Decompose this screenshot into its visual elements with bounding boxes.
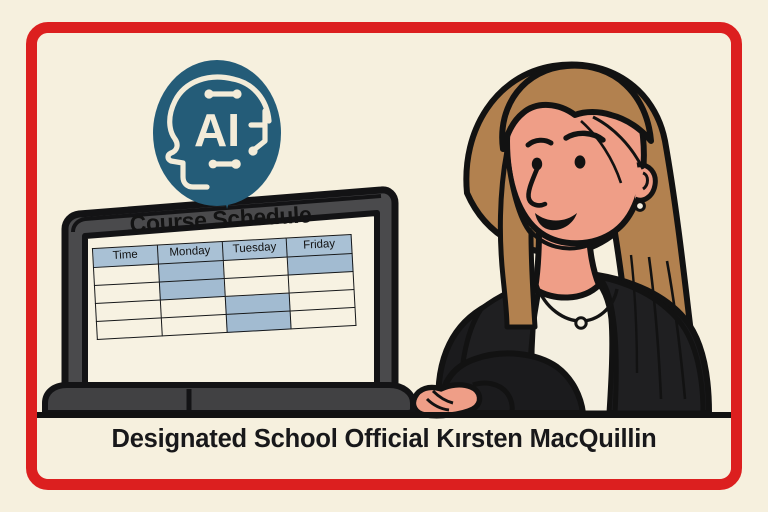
circuit-node-top-left: [204, 89, 213, 98]
caption-text: Designated School Official Kırsten MacQu…: [37, 425, 731, 454]
circuit-node-lower-left: [209, 160, 218, 169]
circuit-node-right: [248, 146, 257, 155]
ai-bubble-group: AI: [153, 60, 281, 209]
illustration-inner-area: Course Schedule Time Monday Tuesday Frid…: [37, 33, 731, 479]
illustration-canvas: Course Schedule Time Monday Tuesday Frid…: [0, 0, 768, 512]
circuit-node-lower-right: [231, 159, 241, 169]
ai-bubble-label: AI: [194, 104, 240, 156]
desk-edge-line: [37, 412, 731, 418]
circuit-node-top-right: [232, 89, 241, 98]
